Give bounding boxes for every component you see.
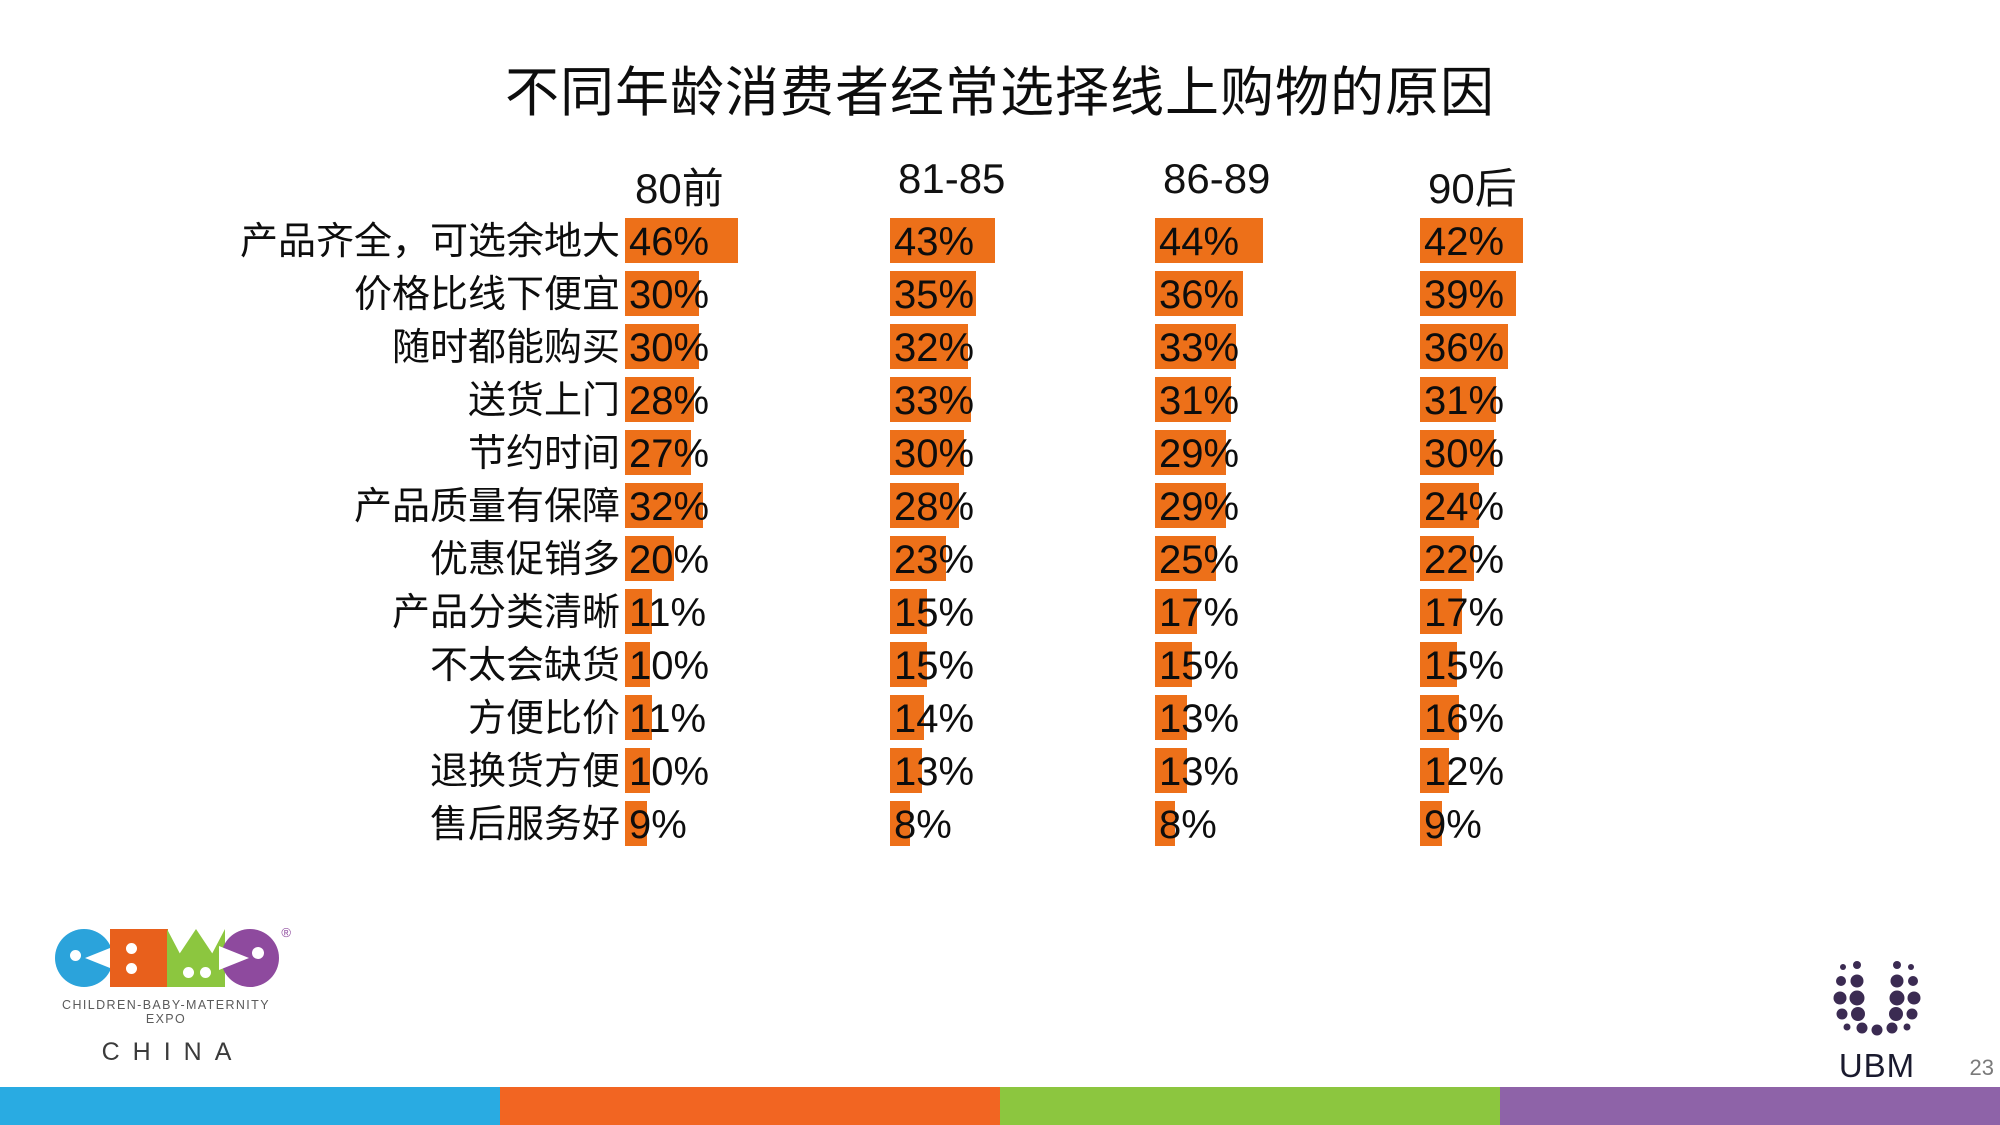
chart-bar-value: 42% bbox=[1424, 222, 1504, 262]
chart-bar-value: 28% bbox=[894, 487, 974, 527]
chart-cell: 33% bbox=[1155, 321, 1420, 374]
cbme-letter-c-icon bbox=[55, 929, 113, 987]
chart-row-label: 送货上门 bbox=[240, 382, 625, 420]
cbme-logo-marks: ® bbox=[55, 929, 277, 991]
chart-row: 价格比线下便宜30%35%36%39% bbox=[240, 268, 1800, 321]
chart-cell: 22% bbox=[1420, 533, 1685, 586]
chart-row-label: 方便比价 bbox=[240, 700, 625, 738]
chart-cell: 12% bbox=[1420, 745, 1685, 798]
chart-bar-value: 39% bbox=[1424, 275, 1504, 315]
chart-row-label: 产品质量有保障 bbox=[240, 488, 625, 526]
registered-trademark-icon: ® bbox=[281, 925, 291, 940]
chart-cell: 15% bbox=[1420, 639, 1685, 692]
chart-row-label: 不太会缺货 bbox=[240, 647, 625, 685]
chart-cell: 30% bbox=[625, 268, 890, 321]
chart-row: 优惠促销多20%23%25%22% bbox=[240, 533, 1800, 586]
chart-cell: 15% bbox=[1155, 639, 1420, 692]
chart-bar-value: 31% bbox=[1424, 381, 1504, 421]
ubm-wordmark: UBM bbox=[1839, 1047, 1915, 1085]
chart-bar-value: 32% bbox=[629, 487, 709, 527]
chart-bar-value: 33% bbox=[894, 381, 974, 421]
chart-cell: 17% bbox=[1420, 586, 1685, 639]
chart-cell: 28% bbox=[890, 480, 1155, 533]
chart-row: 不太会缺货10%15%15%15% bbox=[240, 639, 1800, 692]
chart-bar-value: 8% bbox=[894, 805, 952, 845]
chart-cell: 35% bbox=[890, 268, 1155, 321]
chart-bar-value: 28% bbox=[629, 381, 709, 421]
chart-cell: 25% bbox=[1155, 533, 1420, 586]
series-header-90hou: 90后 bbox=[1420, 155, 1685, 216]
chart-row-label: 产品分类清晰 bbox=[240, 594, 625, 632]
chart-cell: 9% bbox=[625, 798, 890, 851]
chart-cell: 13% bbox=[1155, 692, 1420, 745]
chart-cell: 23% bbox=[890, 533, 1155, 586]
chart-bar-value: 11% bbox=[629, 699, 706, 739]
cbme-letter-e-icon: ® bbox=[221, 929, 279, 987]
chart-bar-value: 27% bbox=[629, 434, 709, 474]
chart-cell: 20% bbox=[625, 533, 890, 586]
chart-bar-value: 35% bbox=[894, 275, 974, 315]
chart-bar-value: 17% bbox=[1424, 593, 1504, 633]
chart-bar-value: 36% bbox=[1424, 328, 1504, 368]
cbme-letter-m-icon bbox=[167, 929, 225, 987]
chart-cell: 43% bbox=[890, 215, 1155, 268]
slide-canvas: 不同年龄消费者经常选择线上购物的原因 80前 81-85 86-89 90后 产… bbox=[0, 0, 2000, 1125]
chart-row-label: 售后服务好 bbox=[240, 806, 625, 844]
chart-row: 随时都能购买30%32%33%36% bbox=[240, 321, 1800, 374]
chart-cell: 13% bbox=[890, 745, 1155, 798]
chart-row: 产品分类清晰11%15%17%17% bbox=[240, 586, 1800, 639]
chart-cell: 30% bbox=[625, 321, 890, 374]
cbme-tagline: CHILDREN-BABY-MATERNITY EXPO bbox=[55, 998, 277, 1026]
chart-cell: 8% bbox=[1155, 798, 1420, 851]
chart-cell: 24% bbox=[1420, 480, 1685, 533]
chart-cell: 42% bbox=[1420, 215, 1685, 268]
chart-cell: 14% bbox=[890, 692, 1155, 745]
chart-cell: 15% bbox=[890, 586, 1155, 639]
chart-bar-value: 13% bbox=[1159, 699, 1239, 739]
chart-cell: 30% bbox=[890, 427, 1155, 480]
chart-cell: 36% bbox=[1420, 321, 1685, 374]
chart-bar-value: 33% bbox=[1159, 328, 1239, 368]
footer-segment-orange bbox=[500, 1087, 1000, 1125]
chart-cell: 27% bbox=[625, 427, 890, 480]
chart-cell: 11% bbox=[625, 586, 890, 639]
chart-row: 售后服务好9%8%8%9% bbox=[240, 798, 1800, 851]
chart-row: 退换货方便10%13%13%12% bbox=[240, 745, 1800, 798]
chart-cell: 36% bbox=[1155, 268, 1420, 321]
chart-bar-value: 14% bbox=[894, 699, 974, 739]
chart-cell: 46% bbox=[625, 215, 890, 268]
chart-bar-value: 25% bbox=[1159, 540, 1239, 580]
chart-row-label: 价格比线下便宜 bbox=[240, 276, 625, 314]
ubm-logo: UBM bbox=[1802, 959, 1952, 1085]
cbme-letter-b-icon bbox=[110, 929, 168, 987]
chart-bar-value: 30% bbox=[629, 275, 709, 315]
chart-cell: 30% bbox=[1420, 427, 1685, 480]
chart-bar-value: 36% bbox=[1159, 275, 1239, 315]
chart-bar-value: 15% bbox=[894, 646, 974, 686]
chart-cell: 31% bbox=[1420, 374, 1685, 427]
chart-bar-value: 15% bbox=[1159, 646, 1239, 686]
chart-cell: 13% bbox=[1155, 745, 1420, 798]
chart-bar-value: 30% bbox=[894, 434, 974, 474]
chart-bar-value: 16% bbox=[1424, 699, 1504, 739]
chart-row-label: 节约时间 bbox=[240, 435, 625, 473]
chart-row-label: 退换货方便 bbox=[240, 753, 625, 791]
chart-bar-value: 8% bbox=[1159, 805, 1217, 845]
chart-cell: 15% bbox=[890, 639, 1155, 692]
series-header-81-85: 81-85 bbox=[890, 155, 1155, 203]
page-number: 23 bbox=[1970, 1055, 1994, 1081]
chart-bar-value: 13% bbox=[894, 752, 974, 792]
chart-bar-value: 15% bbox=[894, 593, 974, 633]
cbme-country-label: CHINA bbox=[55, 1038, 283, 1067]
chart-cell: 39% bbox=[1420, 268, 1685, 321]
chart-bar-value: 13% bbox=[1159, 752, 1239, 792]
footer-segment-green bbox=[1000, 1087, 1500, 1125]
chart-cell: 10% bbox=[625, 639, 890, 692]
chart-column-headers: 80前 81-85 86-89 90后 bbox=[240, 155, 1800, 207]
chart-row: 送货上门28%33%31%31% bbox=[240, 374, 1800, 427]
chart-cell: 28% bbox=[625, 374, 890, 427]
chart-cell: 9% bbox=[1420, 798, 1685, 851]
chart-bar-value: 31% bbox=[1159, 381, 1239, 421]
footer-segment-blue bbox=[0, 1087, 500, 1125]
footer-segment-purple bbox=[1500, 1087, 2000, 1125]
chart-bar-value: 30% bbox=[1424, 434, 1504, 474]
chart-row: 方便比价11%14%13%16% bbox=[240, 692, 1800, 745]
chart-cell: 17% bbox=[1155, 586, 1420, 639]
chart-bar-value: 9% bbox=[629, 805, 687, 845]
chart-bar-value: 23% bbox=[894, 540, 974, 580]
chart-bar-value: 11% bbox=[629, 593, 706, 633]
chart-bar-value: 10% bbox=[629, 752, 709, 792]
chart-cell: 8% bbox=[890, 798, 1155, 851]
chart-row: 节约时间27%30%29%30% bbox=[240, 427, 1800, 480]
grouped-bar-chart: 80前 81-85 86-89 90后 产品齐全，可选余地大46%43%44%4… bbox=[240, 155, 1800, 851]
chart-row-label: 随时都能购买 bbox=[240, 329, 625, 367]
chart-cell: 29% bbox=[1155, 427, 1420, 480]
page-title: 不同年龄消费者经常选择线上购物的原因 bbox=[0, 48, 2000, 127]
chart-bar-value: 20% bbox=[629, 540, 709, 580]
chart-row-label: 产品齐全，可选余地大 bbox=[240, 223, 625, 261]
chart-cell: 32% bbox=[890, 321, 1155, 374]
chart-bar-value: 29% bbox=[1159, 487, 1239, 527]
chart-cell: 32% bbox=[625, 480, 890, 533]
chart-rows: 产品齐全，可选余地大46%43%44%42%价格比线下便宜30%35%36%39… bbox=[240, 215, 1800, 851]
chart-cell: 33% bbox=[890, 374, 1155, 427]
chart-bar-value: 30% bbox=[629, 328, 709, 368]
chart-row-label: 优惠促销多 bbox=[240, 541, 625, 579]
chart-bar-value: 29% bbox=[1159, 434, 1239, 474]
chart-row: 产品齐全，可选余地大46%43%44%42% bbox=[240, 215, 1800, 268]
chart-cell: 44% bbox=[1155, 215, 1420, 268]
series-header-80qian: 80前 bbox=[625, 155, 890, 216]
footer-color-bar bbox=[0, 1087, 2000, 1125]
chart-cell: 16% bbox=[1420, 692, 1685, 745]
chart-bar-value: 9% bbox=[1424, 805, 1482, 845]
chart-cell: 11% bbox=[625, 692, 890, 745]
chart-cell: 10% bbox=[625, 745, 890, 798]
chart-bar-value: 24% bbox=[1424, 487, 1504, 527]
cbme-logo: ® CHILDREN-BABY-MATERNITY EXPO CHINA bbox=[55, 929, 285, 1067]
chart-bar-value: 22% bbox=[1424, 540, 1504, 580]
chart-bar-value: 44% bbox=[1159, 222, 1239, 262]
chart-bar-value: 15% bbox=[1424, 646, 1504, 686]
ubm-dotted-u-icon bbox=[1817, 959, 1937, 1045]
chart-bar-value: 46% bbox=[629, 222, 709, 262]
series-header-86-89: 86-89 bbox=[1155, 155, 1420, 203]
chart-cell: 29% bbox=[1155, 480, 1420, 533]
chart-bar-value: 12% bbox=[1424, 752, 1504, 792]
chart-cell: 31% bbox=[1155, 374, 1420, 427]
chart-bar-value: 17% bbox=[1159, 593, 1239, 633]
chart-bar-value: 43% bbox=[894, 222, 974, 262]
chart-bar-value: 10% bbox=[629, 646, 709, 686]
chart-bar-value: 32% bbox=[894, 328, 974, 368]
chart-row: 产品质量有保障32%28%29%24% bbox=[240, 480, 1800, 533]
